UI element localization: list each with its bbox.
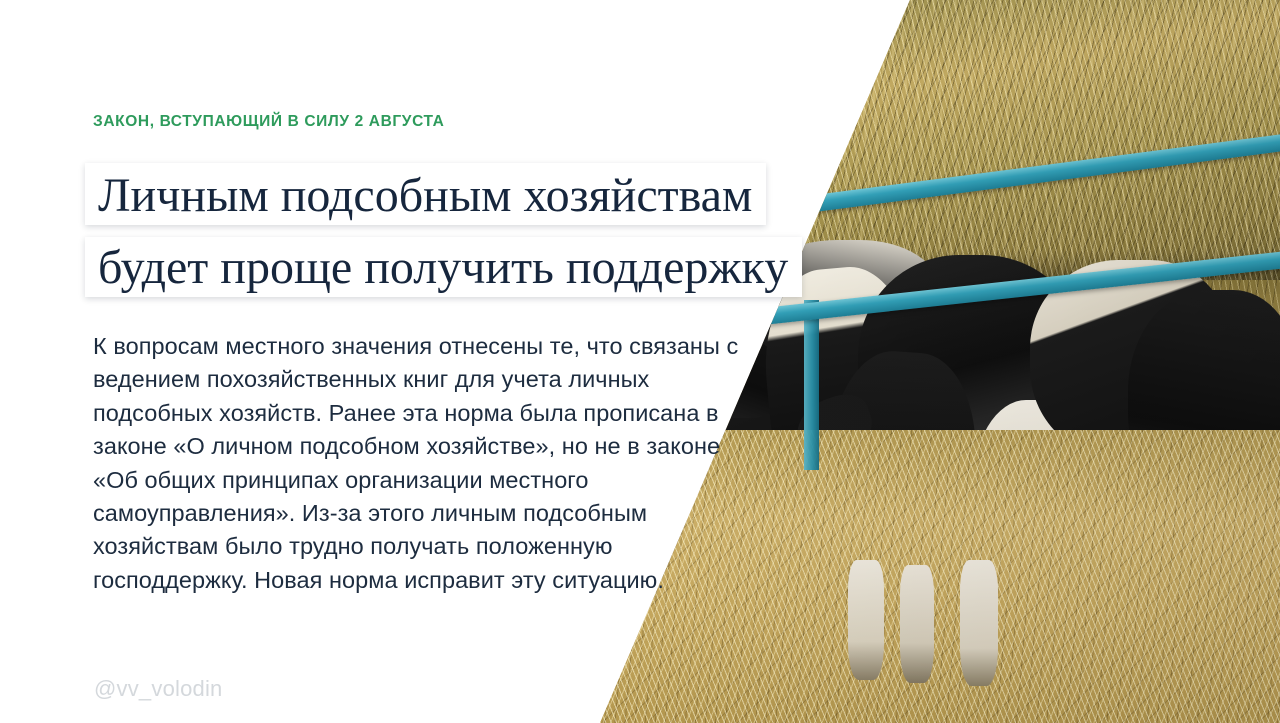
kicker-label: ЗАКОН, ВСТУПАЮЩИЙ В СИЛУ 2 АВГУСТА — [93, 113, 444, 131]
body-text: К вопросам местного значения отнесены те… — [93, 330, 743, 597]
headline-line-2: будет проще получить поддержку — [85, 237, 802, 297]
body-paragraph: К вопросам местного значения отнесены те… — [93, 330, 743, 597]
headline-line-1: Личным подсобным хозяйствам — [85, 163, 766, 225]
author-handle: @vv_volodin — [94, 676, 223, 702]
infographic-card: ЗАКОН, ВСТУПАЮЩИЙ В СИЛУ 2 АВГУСТА Личны… — [0, 0, 1280, 723]
